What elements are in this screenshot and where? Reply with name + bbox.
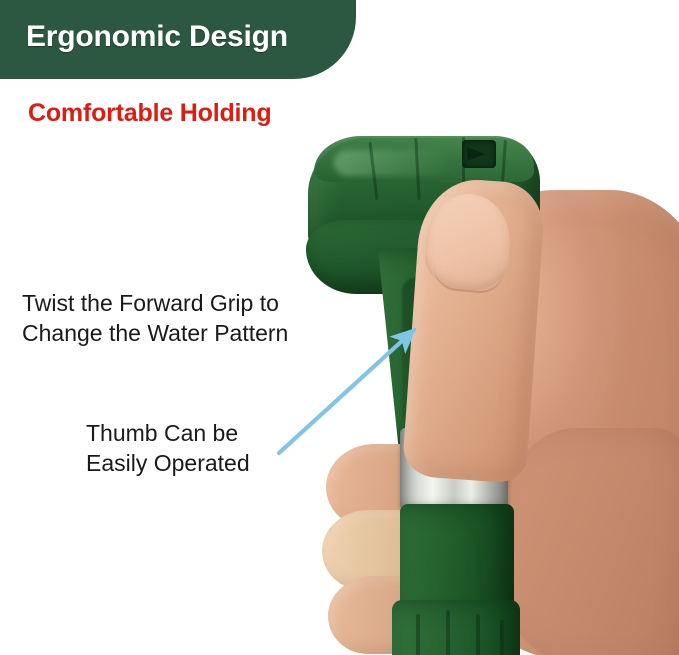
annotation-forward-grip: Twist the Forward Grip to Change the Wat… — [22, 288, 288, 349]
collar-rib — [500, 620, 504, 655]
infographic-canvas: Ergonomic Design Comfortable Holding — [0, 0, 679, 655]
subtitle-comfortable-holding: Comfortable Holding — [28, 99, 271, 128]
nozzle-pattern-indicator-arrow-icon — [462, 140, 496, 168]
collar-rib — [476, 614, 480, 655]
collar-rib — [446, 610, 450, 655]
banner-title: Ergonomic Design — [26, 20, 288, 54]
header-banner: Ergonomic Design — [0, 0, 356, 79]
annotation-thumb: Thumb Can be Easily Operated — [86, 418, 250, 479]
collar-rib — [416, 614, 420, 655]
nozzle-head-highlight — [334, 150, 452, 176]
product-photo — [250, 128, 679, 655]
